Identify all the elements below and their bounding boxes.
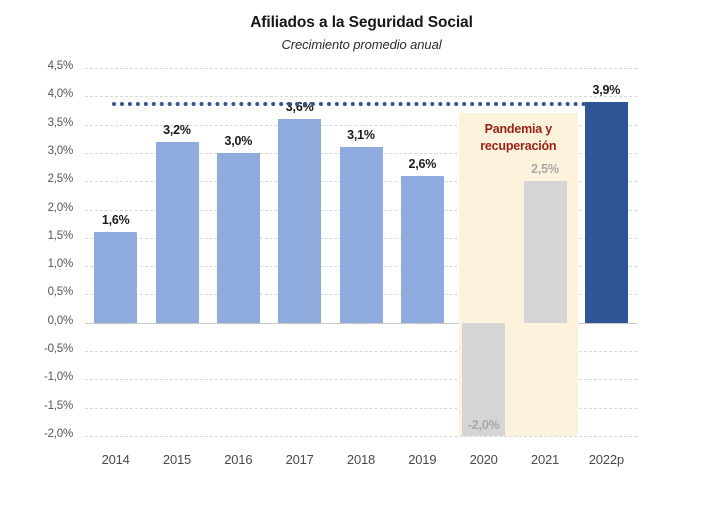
bar-2015[interactable] [156, 142, 199, 323]
y-axis-tick-label: -1,5% [23, 400, 73, 412]
x-axis-tick-label-2022p: 2022p [576, 452, 637, 467]
chart-subtitle: Crecimiento promedio anual [0, 37, 723, 52]
bar-2016[interactable] [217, 153, 260, 323]
y-axis-tick-label: 2,0% [23, 202, 73, 214]
bar-2018[interactable] [340, 147, 383, 323]
bar-2014[interactable] [94, 232, 137, 323]
bar-2019[interactable] [401, 176, 444, 323]
y-axis-tick-label: 1,5% [23, 230, 73, 242]
bar-value-label-2022p: 3,9% [570, 83, 643, 97]
reference-line [112, 102, 626, 106]
y-axis-tick-label: -2,0% [23, 428, 73, 440]
y-axis-tick-label: 3,5% [23, 117, 73, 129]
bar-2022p[interactable] [585, 102, 628, 323]
gridline [85, 436, 637, 437]
bar-value-label-2020: -2,0% [447, 418, 520, 432]
y-axis-tick-label: 0,5% [23, 286, 73, 298]
x-axis-tick-label-2016: 2016 [208, 452, 269, 467]
x-axis-tick-label-2015: 2015 [146, 452, 207, 467]
y-axis-tick-label: 3,0% [23, 145, 73, 157]
y-axis-tick-label: -1,0% [23, 371, 73, 383]
pandemia-annotation-line1: Pandemia y [459, 121, 578, 138]
x-axis-tick-label-2021: 2021 [514, 452, 575, 467]
y-axis-tick-label: 2,5% [23, 173, 73, 185]
x-axis-tick-label-2020: 2020 [453, 452, 514, 467]
x-axis-tick-label-2014: 2014 [85, 452, 146, 467]
pandemia-annotation: Pandemia yrecuperación [459, 121, 578, 155]
x-axis-tick-label-2019: 2019 [392, 452, 453, 467]
bar-value-label-2021: 2,5% [509, 162, 582, 176]
bar-2021[interactable] [524, 181, 567, 323]
bar-value-label-2019: 2,6% [386, 157, 459, 171]
pandemia-annotation-line2: recuperación [459, 138, 578, 155]
y-axis-tick-label: 1,0% [23, 258, 73, 270]
gridline [85, 68, 637, 69]
gridline [85, 96, 637, 97]
x-axis-tick-label-2017: 2017 [269, 452, 330, 467]
y-axis-tick-label: 4,0% [23, 88, 73, 100]
y-axis-tick-label: -0,5% [23, 343, 73, 355]
plot-area: 4,5%4,0%3,5%3,0%2,5%2,0%1,5%1,0%0,5%0,0%… [85, 68, 637, 436]
chart-title: Afiliados a la Seguridad Social [0, 14, 723, 32]
bar-value-label-2014: 1,6% [79, 213, 152, 227]
y-axis-tick-label: 4,5% [23, 60, 73, 72]
bar-value-label-2016: 3,0% [202, 134, 275, 148]
bar-value-label-2018: 3,1% [325, 128, 398, 142]
y-axis-tick-label: 0,0% [23, 315, 73, 327]
bar-chart: Afiliados a la Seguridad Social Crecimie… [0, 0, 723, 512]
bar-2017[interactable] [278, 119, 321, 323]
x-axis-tick-label-2018: 2018 [330, 452, 391, 467]
